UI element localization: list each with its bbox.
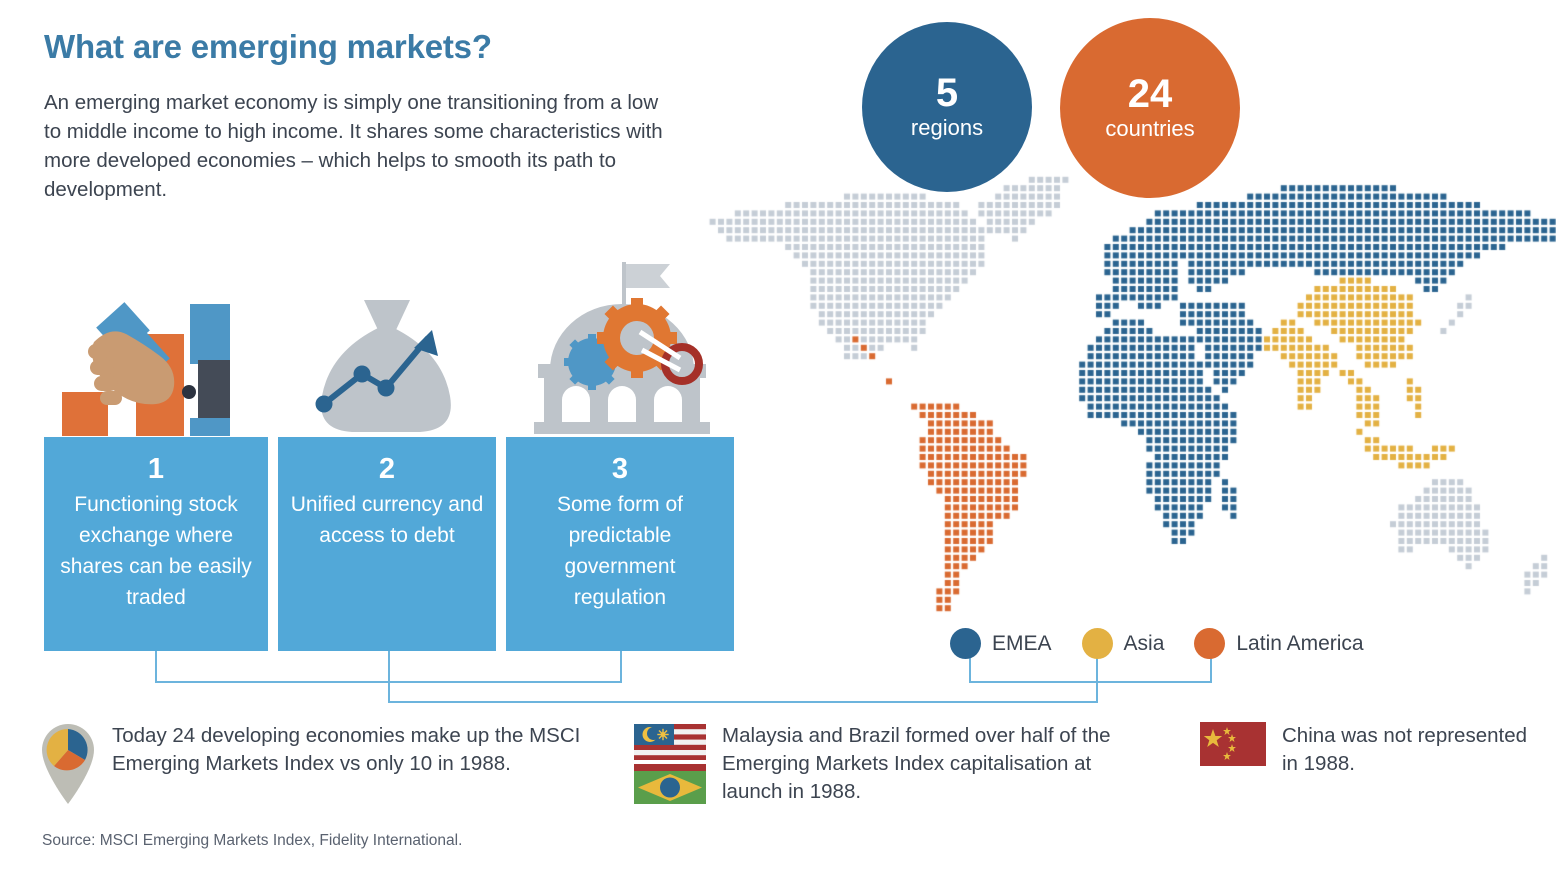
legend-dot-icon bbox=[1194, 628, 1225, 659]
card-connector-line bbox=[388, 651, 390, 703]
legend-connector-line bbox=[978, 701, 1098, 703]
stat-value: 24 bbox=[1128, 73, 1173, 115]
legend-connector-line bbox=[1096, 657, 1098, 703]
intro-paragraph: An emerging market economy is simply one… bbox=[44, 88, 669, 204]
stat-label: countries bbox=[1105, 115, 1194, 143]
criteria-card[interactable]: 2 Unified currency and access to debt bbox=[278, 437, 496, 651]
card-number: 1 bbox=[54, 451, 258, 487]
legend-label: Asia bbox=[1124, 632, 1165, 656]
page-title: What are emerging markets? bbox=[44, 28, 492, 66]
map-pin-pie-chart-icon bbox=[40, 722, 96, 811]
legend-connector-line bbox=[969, 657, 971, 683]
card-connector-line bbox=[620, 651, 622, 683]
footnote-index-composition: Today 24 developing economies make up th… bbox=[40, 722, 600, 811]
dotted-world-map bbox=[676, 160, 1556, 630]
criteria-card[interactable]: 1 Functioning stock exchange where share… bbox=[44, 437, 268, 651]
stat-label: regions bbox=[911, 114, 983, 142]
money-bag-growth-chart-icon bbox=[312, 296, 462, 441]
map-legend: EMEA Asia Latin America bbox=[950, 628, 1380, 659]
legend-dot-icon bbox=[1082, 628, 1113, 659]
legend-label: EMEA bbox=[992, 632, 1052, 656]
stat-value: 5 bbox=[936, 72, 958, 114]
footnote-malaysia-brazil: Malaysia and Brazil formed over half of … bbox=[634, 722, 1154, 811]
legend-item-latin-america[interactable]: Latin America bbox=[1194, 628, 1363, 659]
legend-connector-line bbox=[969, 681, 1212, 683]
footnote-text: Malaysia and Brazil formed over half of … bbox=[722, 722, 1154, 806]
card-text: Unified currency and access to debt bbox=[288, 489, 486, 551]
legend-dot-icon bbox=[950, 628, 981, 659]
card-number: 2 bbox=[288, 451, 486, 487]
legend-item-emea[interactable]: EMEA bbox=[950, 628, 1052, 659]
footnote-china: China was not represented in 1988. bbox=[1200, 722, 1540, 778]
legend-item-asia[interactable]: Asia bbox=[1082, 628, 1165, 659]
legend-label: Latin America bbox=[1236, 632, 1363, 656]
footnote-text: China was not represented in 1988. bbox=[1282, 722, 1540, 778]
criteria-card-list: 1 Functioning stock exchange where share… bbox=[44, 437, 734, 651]
card-connector-line bbox=[155, 681, 622, 683]
malaysia-brazil-flags-icon bbox=[634, 722, 706, 811]
china-flag-icon bbox=[1200, 722, 1266, 773]
footnote-text: Today 24 developing economies make up th… bbox=[112, 722, 600, 778]
card-connector-line bbox=[388, 701, 978, 703]
card-connector-line bbox=[155, 651, 157, 683]
legend-connector-line bbox=[1210, 657, 1212, 683]
handshake-stock-exchange-icon bbox=[58, 296, 258, 441]
card-text: Functioning stock exchange where shares … bbox=[54, 489, 258, 613]
source-note: Source: MSCI Emerging Markets Index, Fid… bbox=[42, 832, 462, 850]
map-canvas bbox=[676, 160, 1556, 630]
